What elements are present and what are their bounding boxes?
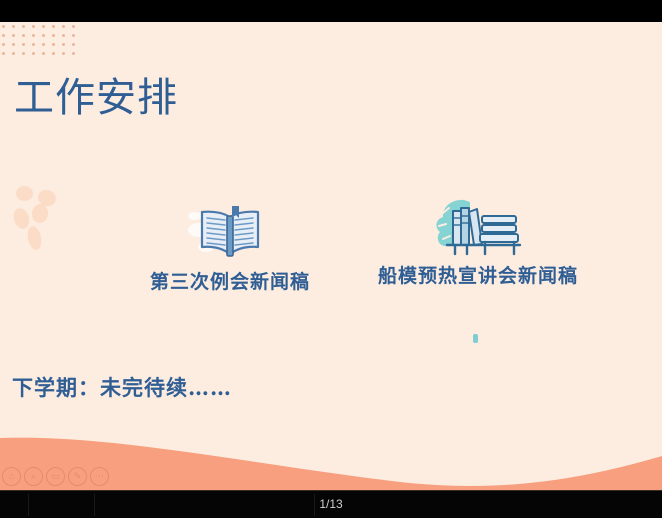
search-icon[interactable]: ⌕	[24, 467, 43, 486]
page-indicator[interactable]: 1/13	[0, 497, 662, 512]
present-icon[interactable]: ▭	[46, 467, 65, 486]
more-icon[interactable]: ⋯	[90, 467, 109, 486]
slide-mini-toolbar[interactable]: ⌂ ⌕ ▭ ✎ ⋯	[2, 467, 109, 486]
viewer-status-bar: 1/13	[0, 490, 662, 518]
dot-grid-decoration	[2, 25, 82, 57]
bottom-note: 下学期：未完待续……	[12, 374, 232, 402]
home-icon[interactable]: ⌂	[2, 467, 21, 486]
petal-decoration	[2, 182, 72, 244]
slide-canvas[interactable]: 工作安排	[0, 22, 662, 490]
viewer-top-bar	[0, 0, 662, 22]
agenda-item-2[interactable]: 船模预热宣讲会新闻稿	[348, 194, 608, 288]
note-icon[interactable]: ✎	[68, 467, 87, 486]
agenda-item-1[interactable]: 第三次例会新闻稿	[110, 200, 350, 294]
open-book-icon	[110, 200, 350, 262]
page-title: 工作安排	[14, 74, 178, 122]
bookshelf-bench-icon	[348, 194, 608, 256]
agenda-item-1-label: 第三次例会新闻稿	[110, 270, 350, 294]
agenda-item-2-label: 船模预热宣讲会新闻稿	[348, 264, 608, 288]
teal-speck-decoration	[473, 334, 478, 343]
slide-viewer: 工作安排	[0, 0, 662, 518]
